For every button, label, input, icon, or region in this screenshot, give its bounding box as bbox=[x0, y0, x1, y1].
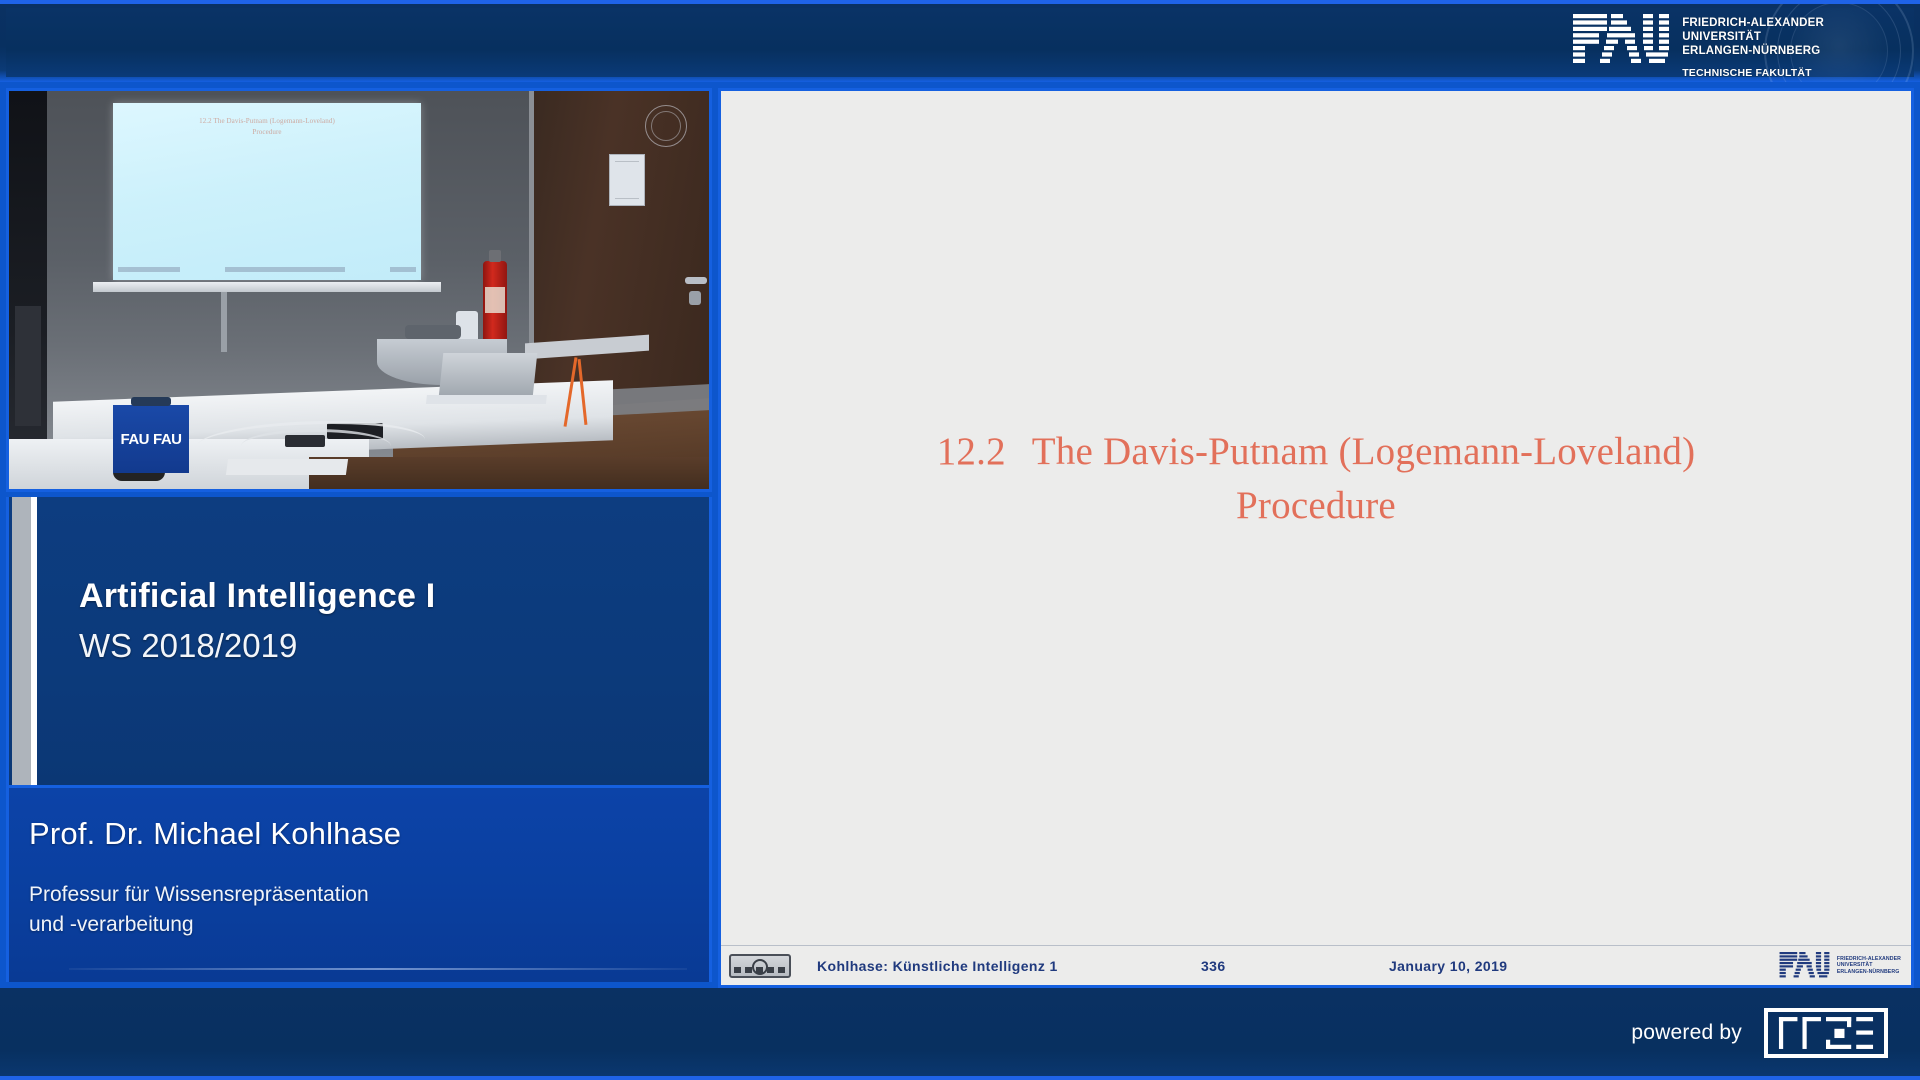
course-term: WS 2018/2019 bbox=[79, 627, 435, 665]
course-title-text: Artificial Intelligence I WS 2018/2019 bbox=[79, 577, 435, 665]
affiliation-line-1: Professur für Wissensrepräsentation bbox=[29, 883, 369, 906]
fau-box-label-2: FAU bbox=[153, 431, 182, 448]
lecture-room-video[interactable]: 12.2 The Davis-Putnam (Logemann-Loveland… bbox=[6, 88, 712, 492]
creative-commons-badge-icon bbox=[729, 954, 791, 978]
fau-branded-box: FAU FAU bbox=[113, 405, 189, 473]
slide-footer-page-number: 336 bbox=[1201, 958, 1226, 974]
slide-footer: Kohlhase: Künstliche Intelligenz 1 336 J… bbox=[721, 945, 1911, 985]
course-name: Artificial Intelligence I bbox=[79, 577, 435, 616]
projected-title-line2: Procedure bbox=[252, 128, 281, 136]
projected-slide-title: 12.2 The Davis-Putnam (Logemann-Loveland… bbox=[113, 116, 421, 138]
door-sign bbox=[609, 154, 645, 206]
laptop bbox=[439, 353, 538, 397]
footer-org-line-3: ERLANGEN-NÜRNBERG bbox=[1837, 969, 1901, 976]
presenter-divider bbox=[69, 968, 687, 970]
page-footer: powered by bbox=[0, 988, 1920, 1080]
left-wall bbox=[9, 91, 47, 489]
lecture-recording-player: FRIEDRICH-ALEXANDER UNIVERSITÄT ERLANGEN… bbox=[0, 0, 1920, 1080]
cable-2 bbox=[241, 429, 391, 463]
slide-footer-date: January 10, 2019 bbox=[1389, 958, 1507, 974]
door-handle-icon bbox=[685, 277, 707, 284]
university-seal-icon bbox=[1764, 0, 1914, 82]
screen-frame-bar bbox=[93, 282, 441, 292]
fau-wordmark-footer: FRIEDRICH-ALEXANDER UNIVERSITÄT ERLANGEN… bbox=[1837, 956, 1901, 976]
slide-heading-line2: Procedure bbox=[1236, 484, 1396, 527]
fire-extinguisher-icon bbox=[483, 261, 507, 345]
door-lock-icon bbox=[689, 291, 701, 305]
slide-footer-fau-brand: FRIEDRICH-ALEXANDER UNIVERSITÄT ERLANGEN… bbox=[1779, 952, 1901, 979]
wall-seal-icon bbox=[645, 105, 687, 147]
footer-org-line-2: UNIVERSITÄT bbox=[1837, 962, 1901, 969]
slide-content: 12.2The Davis-Putnam (Logemann-Loveland)… bbox=[721, 91, 1911, 945]
slide-heading-line1: The Davis-Putnam (Logemann-Loveland) bbox=[1032, 430, 1696, 473]
presenter-affiliation: Professur für Wissensrepräsentation und … bbox=[29, 880, 687, 941]
presenter-name: Prof. Dr. Michael Kohlhase bbox=[29, 816, 401, 852]
fau-logo-icon-footer bbox=[1779, 952, 1831, 979]
fau-logo-icon bbox=[1573, 14, 1671, 66]
affiliation-line-2: und -verarbeitung bbox=[29, 913, 194, 936]
course-title-block: Artificial Intelligence I WS 2018/2019 bbox=[6, 497, 712, 785]
projected-title-line1: 12.2 The Davis-Putnam (Logemann-Loveland… bbox=[199, 117, 335, 125]
projected-slide-footer bbox=[118, 267, 416, 272]
slide-heading: 12.2The Davis-Putnam (Logemann-Loveland)… bbox=[886, 425, 1746, 533]
room-door bbox=[529, 91, 712, 421]
screen-support-arm bbox=[221, 292, 227, 352]
slide-footer-course: Kohlhase: Künstliche Intelligenz 1 bbox=[817, 958, 1058, 974]
page-header: FRIEDRICH-ALEXANDER UNIVERSITÄT ERLANGEN… bbox=[0, 0, 1920, 82]
slide-section-number: 12.2 bbox=[937, 430, 1006, 473]
powered-by-label: powered by bbox=[1631, 1021, 1742, 1045]
presenter-block: Prof. Dr. Michael Kohlhase Professur für… bbox=[6, 785, 712, 982]
slide-view[interactable]: 12.2The Davis-Putnam (Logemann-Loveland)… bbox=[718, 88, 1914, 988]
powered-by-block: powered by bbox=[1631, 1008, 1888, 1058]
title-accent-bar bbox=[12, 497, 37, 785]
rrze-logo-icon bbox=[1764, 1008, 1888, 1058]
fau-box-label-1: FAU bbox=[121, 431, 150, 448]
projection-screen: 12.2 The Davis-Putnam (Logemann-Loveland… bbox=[113, 103, 421, 280]
